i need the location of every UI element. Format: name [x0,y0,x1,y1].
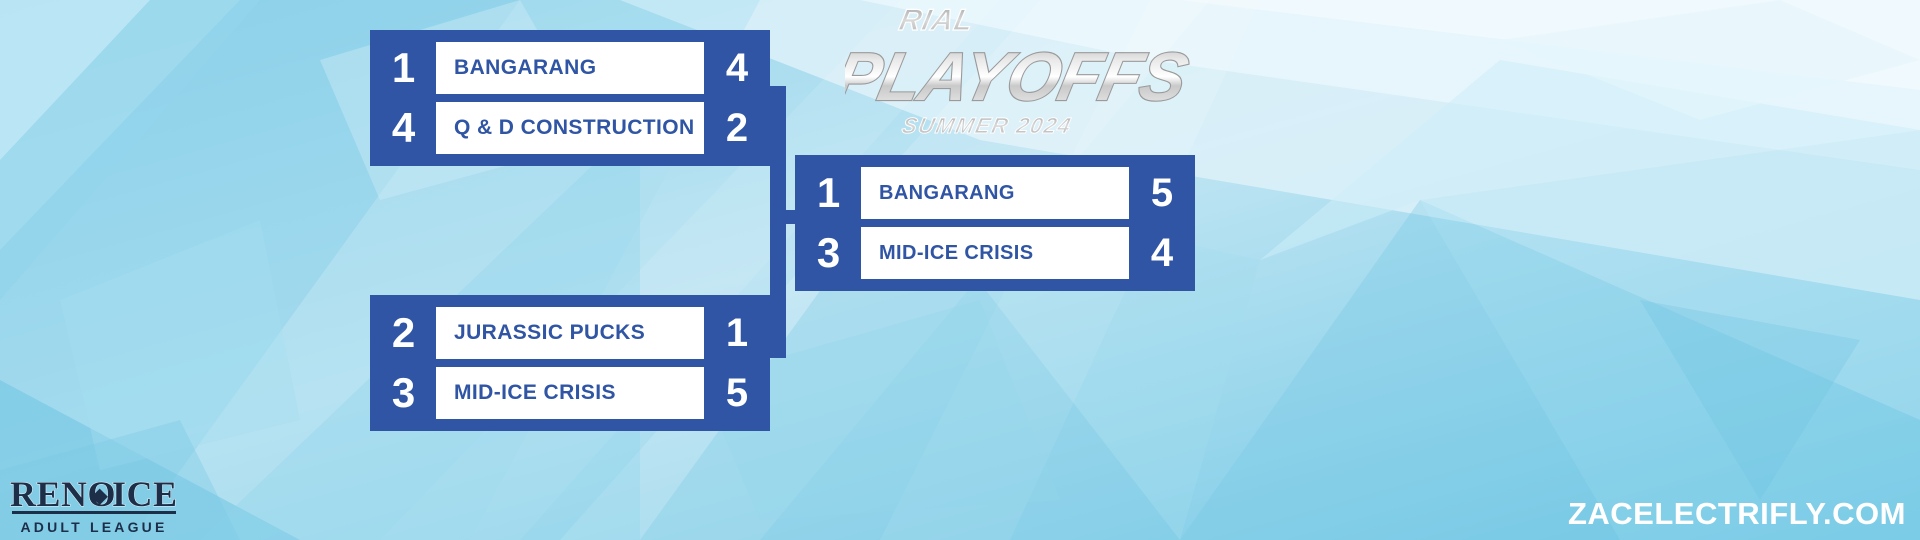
seed-number: 2 [370,307,436,359]
table-row[interactable]: 1 BANGARANG 4 [370,42,770,94]
seed-number: 3 [795,227,861,279]
logo-line2: ADULT LEAGUE [20,519,167,535]
logo-line1-dot: ◆ [91,485,108,507]
team-score: 5 [1129,167,1195,219]
seed-number: 1 [370,42,436,94]
team-name: JURASSIC PUCKS [436,307,704,359]
bracket-diagram: 1 BANGARANG 4 4 Q & D CONSTRUCTION 2 2 J… [0,0,1920,540]
matchup-final[interactable]: 1 BANGARANG 5 3 MID-ICE CRISIS 4 [795,155,1195,291]
team-name: MID-ICE CRISIS [436,367,704,419]
team-score: 5 [704,367,770,419]
logo-line1-right: ICE [112,474,178,514]
table-row[interactable]: 1 BANGARANG 5 [795,167,1195,219]
seed-number: 1 [795,167,861,219]
matchup-semi-1[interactable]: 1 BANGARANG 4 4 Q & D CONSTRUCTION 2 [370,30,770,166]
matchup-semi-2[interactable]: 2 JURASSIC PUCKS 1 3 MID-ICE CRISIS 5 [370,295,770,431]
table-row[interactable]: 4 Q & D CONSTRUCTION 2 [370,102,770,154]
team-name: BANGARANG [436,42,704,94]
team-name: MID-ICE CRISIS [861,227,1129,279]
table-row[interactable]: 3 MID-ICE CRISIS 4 [795,227,1195,279]
seed-number: 4 [370,102,436,154]
seed-number: 3 [370,367,436,419]
team-score: 2 [704,102,770,154]
watermark-url: ZACELECTRIFLY.COM [1568,496,1906,532]
table-row[interactable]: 3 MID-ICE CRISIS 5 [370,367,770,419]
team-score: 1 [704,307,770,359]
team-score: 4 [1129,227,1195,279]
table-row[interactable]: 2 JURASSIC PUCKS 1 [370,307,770,359]
reno-ice-adult-league-logo: RENO ◆ ICE ADULT LEAGUE [8,466,180,538]
team-name: BANGARANG [861,167,1129,219]
team-name: Q & D CONSTRUCTION [436,102,704,154]
team-score: 4 [704,42,770,94]
